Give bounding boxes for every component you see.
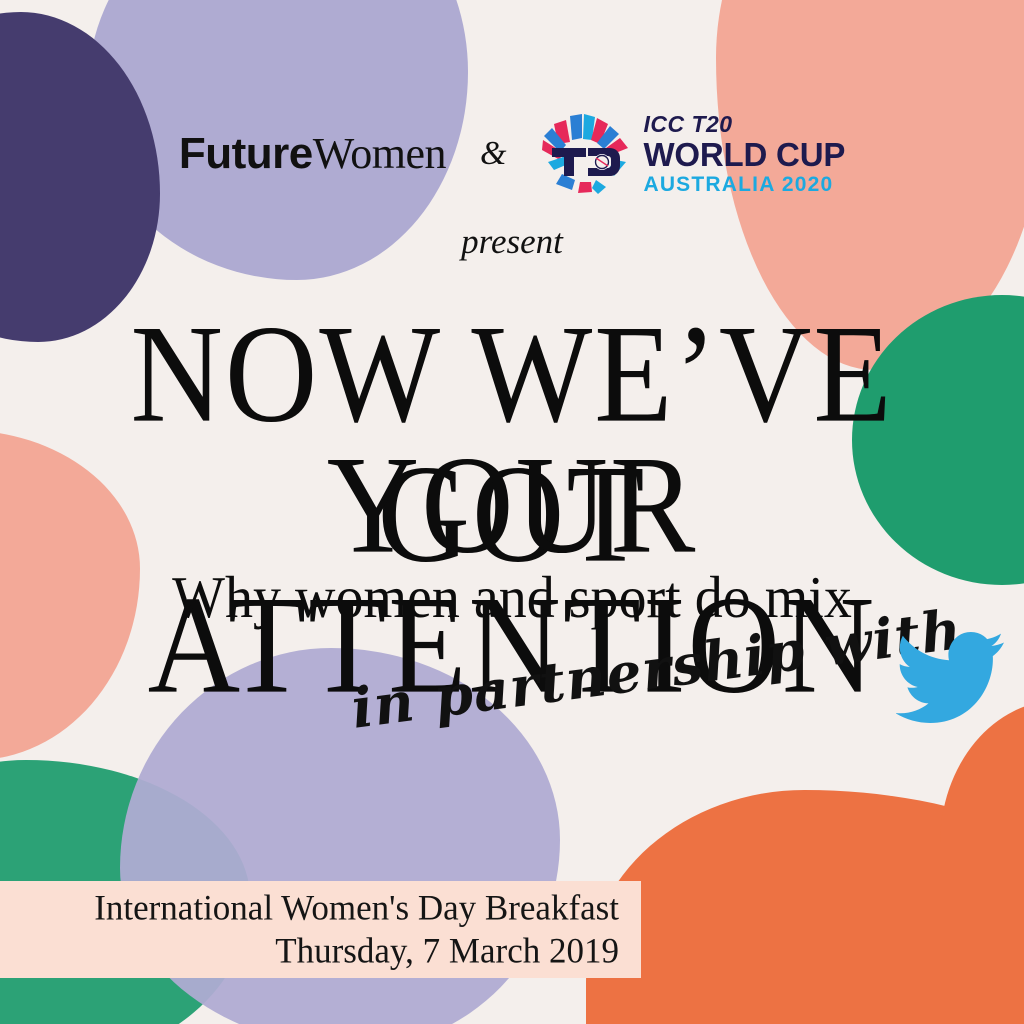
future-women-word-women: Women: [313, 129, 446, 178]
poster-canvas: FutureWomen &: [0, 0, 1024, 1024]
blob-orange-bottom-right-edge: [940, 700, 1024, 1024]
t20-burst-icon: [540, 112, 632, 196]
banner-line-2: Thursday, 7 March 2019: [275, 929, 619, 973]
icc-logo-line-2: WORLD CUP: [643, 138, 845, 171]
future-women-logo: FutureWomen: [179, 132, 446, 176]
event-banner: International Women's Day Breakfast Thur…: [0, 881, 641, 978]
future-women-word-future: Future: [179, 129, 313, 178]
logo-row: FutureWomen &: [0, 112, 1024, 196]
banner-line-1: International Women's Day Breakfast: [94, 886, 619, 930]
icc-logo-wordmark: ICC T20 WORLD CUP AUSTRALIA 2020: [643, 113, 845, 195]
present-label: present: [0, 222, 1024, 262]
icc-t20-world-cup-logo: ICC T20 WORLD CUP AUSTRALIA 2020: [540, 112, 845, 196]
blob-orange-bottom-right: [586, 790, 1024, 1024]
icc-logo-line-1: ICC T20: [643, 113, 845, 136]
twitter-bird-icon: [896, 628, 1008, 726]
ampersand-glyph: &: [474, 135, 512, 173]
icc-logo-line-3: AUSTRALIA 2020: [643, 174, 845, 195]
